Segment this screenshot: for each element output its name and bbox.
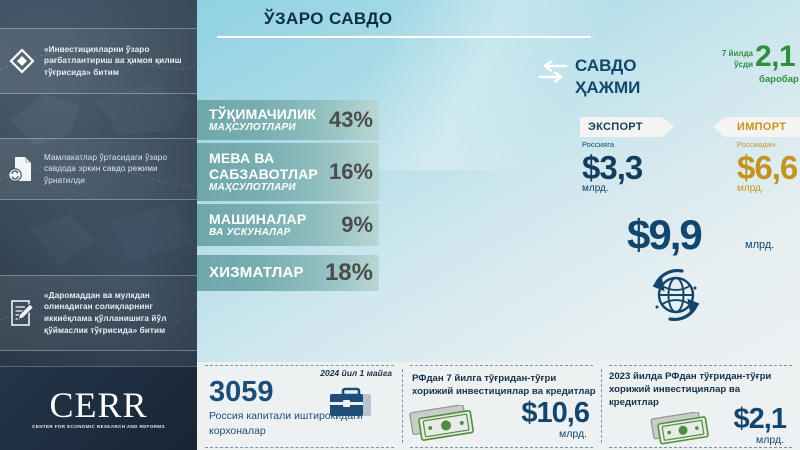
export-block: ЭКСПОРТ Россияга $3,3 млрд.: [580, 117, 662, 194]
stat-companies-with-russian-capital[interactable]: 2024 йил 1 майга 3059 Россия капитали иш…: [197, 362, 402, 450]
growth-value: 2,1: [755, 40, 795, 74]
growth-indicator: 7 йилда ўсди 2,1 баробар: [705, 44, 800, 92]
export-category-list: ТЎҚИМАЧИЛИК МАҲСУЛОТЛАРИ 43% МЕВА ВА САБ…: [197, 100, 384, 294]
category-name: ХИЗМАТЛАР: [209, 265, 321, 281]
stat-fdi-2023[interactable]: 2023 йилда РФдан тўғридан-тўғри хорижий …: [601, 362, 800, 450]
divider-top: [205, 365, 394, 366]
briefcase-icon: [329, 386, 373, 425]
exchange-arrows-icon: [538, 60, 568, 89]
divider-top: [410, 365, 593, 366]
export-amount: $3,3: [580, 151, 662, 185]
growth-period-line2: ўсди: [705, 59, 753, 70]
logo-subtitle: CENTER FOR ECONOMIC RESEARCH AND REFORMS: [32, 424, 165, 430]
category-name-2: САБЗАВОТЛАР: [209, 166, 325, 182]
sidebar-item-investment-treaty[interactable]: «Инвестицияларни ўзаро рағбатлантириш ва…: [0, 28, 197, 94]
category-name: ТЎҚИМАЧИЛИК: [209, 106, 325, 122]
stat-caption: РФдан 7 йилга тўғридан-тўғри хорижий инв…: [412, 372, 598, 398]
category-subname: ВА УСКУНАЛАР: [209, 227, 337, 239]
sidebar-item-label: «Даромаддан ва мулкдан олинадиган солиқл…: [44, 290, 189, 336]
export-direction: Россияга: [580, 140, 662, 149]
category-name: МЕВА ВА: [209, 150, 325, 166]
category-percent: 16%: [329, 160, 373, 184]
export-tag: ЭКСПОРТ: [580, 117, 662, 137]
growth-unit: баробар: [759, 74, 799, 85]
stat-amount: $10,6: [521, 398, 589, 428]
category-percent: 18%: [325, 261, 373, 285]
growth-period-line1: 7 йилда: [705, 48, 753, 59]
banknotes-icon: [649, 412, 721, 450]
category-percent: 9%: [341, 213, 373, 237]
banknotes-icon: [408, 405, 490, 450]
divider-top: [609, 365, 792, 366]
diamond-icon: [7, 48, 37, 74]
import-tag: ИМПОРТ: [725, 117, 800, 137]
logo-wordmark: CERR: [49, 387, 147, 423]
globe-cycle-icon: [644, 262, 708, 331]
title-divider: [217, 36, 591, 38]
stat-amount: $2,1: [734, 404, 786, 434]
divider-left: [601, 369, 602, 443]
document-exchange-icon: [7, 155, 37, 183]
stat-fdi-7-years[interactable]: РФдан 7 йилга тўғридан-тўғри хорижий инв…: [402, 362, 601, 450]
bottom-stats-bar: 2024 йил 1 майга 3059 Россия капитали иш…: [197, 362, 800, 450]
sidebar: «Инвестицияларни ўзаро рағбатлантириш ва…: [0, 0, 197, 450]
sidebar-item-label: Мамлакатлар ўртасидаги ўзаро савдода эрк…: [44, 152, 189, 187]
total-trade-block: $9,9 млрд.: [627, 213, 701, 257]
document-pencil-icon: [7, 298, 37, 328]
import-direction: Россиядан: [725, 140, 800, 149]
total-unit: млрд.: [745, 239, 774, 251]
sidebar-item-free-trade-regime[interactable]: Мамлакатлар ўртасидаги ўзаро савдода эрк…: [0, 138, 197, 200]
sidebar-item-label: «Инвестицияларни ўзаро рағбатлантириш ва…: [44, 44, 189, 79]
infographic-root: «Инвестицияларни ўзаро рағбатлантириш ва…: [0, 0, 800, 450]
category-percent: 43%: [329, 108, 373, 132]
category-name: МАШИНАЛАР: [209, 211, 337, 227]
export-category-row[interactable]: ХИЗМАТЛАР 18%: [197, 255, 379, 291]
cerr-logo[interactable]: CERR CENTER FOR ECONOMIC RESEARCH AND RE…: [0, 366, 197, 450]
stat-value: 3059: [209, 377, 274, 407]
import-amount: $6,6: [725, 151, 800, 185]
export-category-row[interactable]: ТЎҚИМАЧИЛИК МАҲСУЛОТЛАРИ 43%: [197, 100, 379, 140]
stat-date: 2024 йил 1 майга: [320, 368, 392, 378]
export-category-row[interactable]: МАШИНАЛАР ВА УСКУНАЛАР 9%: [197, 204, 379, 246]
divider-bottom: [205, 447, 394, 448]
category-subname: МАҲСУЛОТЛАРИ: [209, 122, 325, 134]
trade-volume-line2: ҲАЖМИ: [575, 77, 640, 99]
export-category-row[interactable]: МЕВА ВА САБЗАВОТЛАР МАҲСУЛОТЛАРИ 16%: [197, 143, 379, 201]
category-names: ТЎҚИМАЧИЛИК МАҲСУЛОТЛАРИ: [209, 106, 325, 134]
growth-period-label: 7 йилда ўсди: [705, 48, 753, 70]
category-names: ХИЗМАТЛАР: [209, 265, 321, 281]
trade-volume-line1: САВДО: [575, 55, 640, 77]
trade-volume-label: САВДО ҲАЖМИ: [575, 55, 640, 99]
stat-unit: млрд.: [756, 434, 784, 446]
page-title-text: ЎЗАРО САВДО: [264, 9, 392, 29]
total-amount: $9,9: [627, 213, 701, 257]
page-title: ЎЗАРО САВДО: [264, 9, 392, 29]
category-names: МАШИНАЛАР ВА УСКУНАЛАР: [209, 211, 337, 239]
import-block: ИМПОРТ Россиядан $6,6 млрд.: [725, 117, 800, 194]
stat-unit: млрд.: [559, 428, 587, 440]
category-names: МЕВА ВА САБЗАВОТЛАР МАҲСУЛОТЛАРИ: [209, 150, 325, 194]
divider-left: [402, 369, 403, 443]
category-subname: МАҲСУЛОТЛАРИ: [209, 182, 325, 194]
sidebar-item-double-taxation-treaty[interactable]: «Даромаддан ва мулкдан олинадиган солиқл…: [0, 275, 197, 351]
